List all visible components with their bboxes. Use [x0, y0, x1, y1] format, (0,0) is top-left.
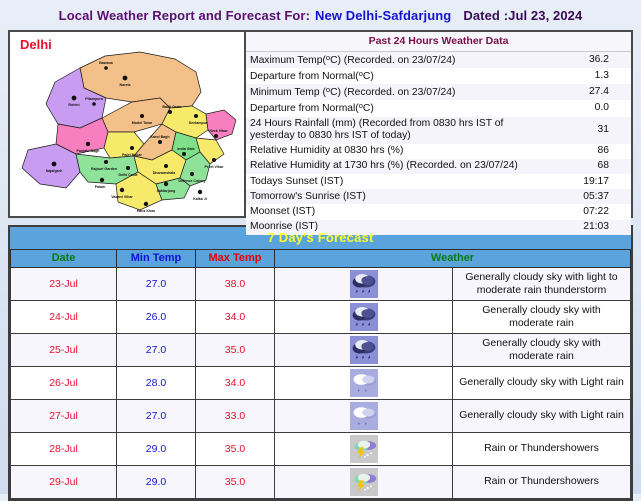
forecast-date: 24-Jul — [11, 301, 117, 334]
svg-text:Badli Gram: Badli Gram — [162, 105, 181, 109]
row-value: 1.3 — [541, 68, 631, 84]
table-row: 26-Jul 28.0 34.0 Generally cloudy sky wi… — [11, 367, 631, 400]
forecast-max-temp: 35.0 — [196, 433, 275, 466]
row-value: 68 — [541, 159, 631, 174]
rain-thunderstorm-cloud-icon — [275, 268, 453, 301]
column-header-weather[interactable]: Weather — [275, 250, 631, 268]
svg-text:Safdarjung: Safdarjung — [157, 189, 176, 193]
column-header-date[interactable]: Date — [11, 250, 117, 268]
svg-text:Defence Colony: Defence Colony — [178, 179, 205, 183]
past-24-heading: Past 24 Hours Weather Data — [246, 32, 631, 52]
forecast-min-temp: 28.0 — [117, 367, 196, 400]
svg-text:Punjabi Bagh: Punjabi Bagh — [77, 149, 100, 153]
row-label: Todays Sunset (IST) — [246, 174, 541, 189]
svg-text:Delhi Cantt: Delhi Cantt — [119, 173, 139, 177]
row-value: 05:37 — [541, 189, 631, 204]
thundershower-icon — [275, 433, 453, 466]
row-label: Departure from Normal(oC) — [246, 100, 541, 116]
svg-text:Vasant Vihar: Vasant Vihar — [111, 195, 133, 199]
row-value: 86 — [541, 144, 631, 159]
svg-text:Bawana: Bawana — [99, 61, 114, 65]
table-row: Tomorrow's Sunrise (IST) 05:37 — [246, 189, 631, 204]
row-label: 24 Hours Rainfall (mm) (Recorded from 08… — [246, 117, 541, 144]
forecast-table: Date Min Temp Max Temp Weather 23-Jul 27… — [10, 250, 631, 499]
svg-text:Model Town: Model Town — [132, 121, 153, 125]
svg-text:Vivek Vihar: Vivek Vihar — [208, 129, 228, 133]
row-value: 21:03 — [541, 220, 631, 235]
page-title: Local Weather Report and Forecast For: N… — [8, 0, 633, 30]
station-name: New Delhi-Safdarjung — [315, 8, 451, 23]
table-row: Moonset (IST) 07:22 — [246, 204, 631, 219]
svg-text:Palam: Palam — [95, 185, 106, 189]
column-header-max-temp[interactable]: Max Temp — [196, 250, 275, 268]
forecast-date: 28-Jul — [11, 433, 117, 466]
forecast-date: 26-Jul — [11, 367, 117, 400]
svg-text:India Gate: India Gate — [177, 147, 194, 151]
forecast-max-temp: 33.0 — [196, 400, 275, 433]
forecast-date: 25-Jul — [11, 334, 117, 367]
table-row: 24-Jul 26.0 34.0 Generally cloudy sky wi… — [11, 301, 631, 334]
row-label: Departure from Normal(oC) — [246, 68, 541, 84]
top-section: Delhi — [8, 30, 633, 218]
light-rain-cloud-icon — [275, 367, 453, 400]
forecast-min-temp: 27.0 — [117, 334, 196, 367]
svg-text:Rajouri Garden: Rajouri Garden — [91, 167, 117, 171]
table-row: Departure from Normal(oC) 1.3 — [246, 68, 631, 84]
svg-text:Hauz Khas: Hauz Khas — [137, 209, 155, 213]
forecast-description: Generally cloudy sky with moderate rain — [453, 301, 631, 334]
row-value: 0.0 — [541, 100, 631, 116]
past-24-hours-panel: Past 24 Hours Weather Data Maximum Temp(… — [246, 32, 631, 216]
forecast-date: 27-Jul — [11, 400, 117, 433]
weather-report-page: Local Weather Report and Forecast For: N… — [0, 0, 641, 494]
table-row: Departure from Normal(oC) 0.0 — [246, 100, 631, 116]
forecast-min-temp: 27.0 — [117, 268, 196, 301]
table-row: Maximum Temp(oC) (Recorded. on 23/07/24)… — [246, 52, 631, 69]
table-row: Relative Humidity at 1730 hrs (%) (Recor… — [246, 159, 631, 174]
row-value: 36.2 — [541, 52, 631, 69]
report-date: Dated :Jul 23, 2024 — [463, 8, 582, 23]
svg-text:Rohini: Rohini — [68, 103, 79, 107]
svg-text:Patel Nagar: Patel Nagar — [122, 153, 142, 157]
forecast-min-temp: 29.0 — [117, 433, 196, 466]
forecast-max-temp: 35.0 — [196, 334, 275, 367]
table-row: 24 Hours Rainfall (mm) (Recorded from 08… — [246, 117, 631, 144]
delhi-district-map: Narela Rohini Bawana Model Town Badli Gr… — [10, 32, 246, 216]
svg-text:Pitampura: Pitampura — [85, 97, 104, 101]
table-row: 27-Jul 27.0 33.0 Generally cloudy sky wi… — [11, 400, 631, 433]
table-row: 28-Jul 29.0 35.0 Rain or Thundershowers — [11, 433, 631, 466]
table-row: Relative Humidity at 0830 hrs (%) 86 — [246, 144, 631, 159]
forecast-description: Rain or Thundershowers — [453, 433, 631, 466]
page-title-text: Local Weather Report and Forecast For: — [59, 8, 310, 23]
row-value: 19:17 — [541, 174, 631, 189]
forecast-max-temp: 34.0 — [196, 301, 275, 334]
table-row: 23-Jul 27.0 38.0 Generally cloudy sky wi… — [11, 268, 631, 301]
delhi-map-panel: Delhi — [10, 32, 246, 216]
table-row: 25-Jul 27.0 35.0 Generally cloudy sky wi… — [11, 334, 631, 367]
column-header-min-temp[interactable]: Min Temp — [117, 250, 196, 268]
row-value: 27.4 — [541, 84, 631, 100]
table-header-row: Past 24 Hours Weather Data — [246, 32, 631, 52]
rain-cloud-icon — [275, 334, 453, 367]
svg-text:Najafgarh: Najafgarh — [46, 169, 63, 173]
forecast-max-temp: 38.0 — [196, 268, 275, 301]
past-24-hours-table: Past 24 Hours Weather Data Maximum Temp(… — [246, 32, 631, 235]
svg-text:Dharamshala: Dharamshala — [153, 171, 177, 175]
row-label: Maximum Temp(oC) (Recorded. on 23/07/24) — [246, 52, 541, 69]
forecast-min-temp: 27.0 — [117, 400, 196, 433]
table-row: Todays Sunset (IST) 19:17 — [246, 174, 631, 189]
row-label: Minimum Temp (oC) (Recorded. on 23/07/24… — [246, 84, 541, 100]
forecast-max-temp: 34.0 — [196, 367, 275, 400]
svg-text:Narela: Narela — [120, 83, 132, 87]
forecast-panel: 7 Day's Forecast Date Min Temp Max Temp … — [8, 225, 633, 501]
row-value: 31 — [541, 117, 631, 144]
forecast-date: 23-Jul — [11, 268, 117, 301]
forecast-header-row: Date Min Temp Max Temp Weather — [11, 250, 631, 268]
map-title: Delhi — [20, 37, 52, 52]
rain-cloud-icon — [275, 301, 453, 334]
forecast-description: Generally cloudy sky with light to moder… — [453, 268, 631, 301]
light-rain-cloud-icon — [275, 400, 453, 433]
row-label: Tomorrow's Sunrise (IST) — [246, 189, 541, 204]
forecast-description: Generally cloudy sky with Light rain — [453, 367, 631, 400]
svg-text:Karol Bagh: Karol Bagh — [150, 135, 169, 139]
row-value: 07:22 — [541, 204, 631, 219]
row-label: Relative Humidity at 0830 hrs (%) — [246, 144, 541, 159]
forecast-min-temp: 26.0 — [117, 301, 196, 334]
forecast-description: Generally cloudy sky with Light rain — [453, 400, 631, 433]
forecast-description: Generally cloudy sky with moderate rain — [453, 334, 631, 367]
svg-text:Preet Vihar: Preet Vihar — [205, 165, 225, 169]
row-label: Relative Humidity at 1730 hrs (%) (Recor… — [246, 159, 541, 174]
svg-text:Seelampur: Seelampur — [189, 121, 208, 125]
svg-text:Kalka Ji: Kalka Ji — [193, 197, 207, 201]
table-row: Minimum Temp (oC) (Recorded. on 23/07/24… — [246, 84, 631, 100]
row-label: Moonset (IST) — [246, 204, 541, 219]
